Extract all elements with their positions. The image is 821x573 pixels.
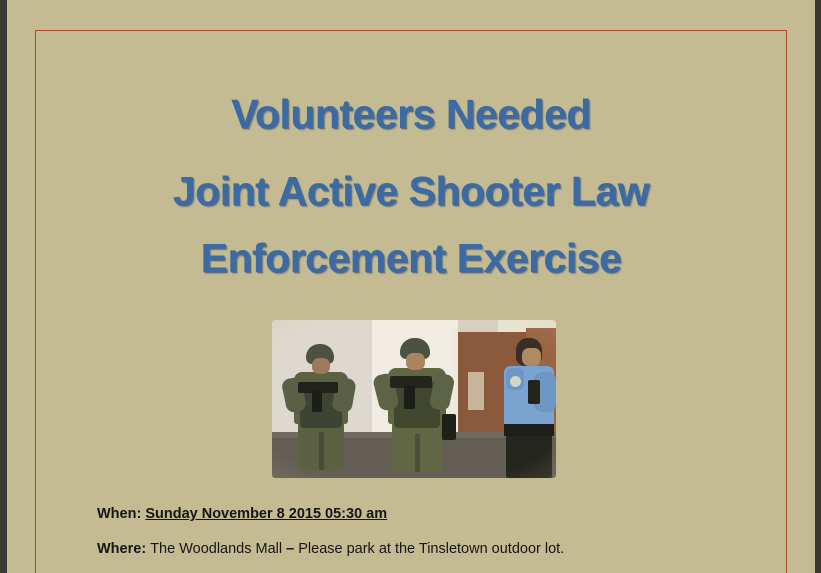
where-dash: – (286, 541, 294, 557)
where-venue: The Woodlands Mall (150, 541, 286, 557)
photo-officer1-leg-gap (319, 432, 324, 470)
when-label: When: (97, 506, 141, 522)
exercise-photo-image (272, 320, 556, 478)
photo-officer2-face (406, 353, 425, 370)
heading-line-2: Joint Active Shooter Law (35, 165, 787, 217)
photo-officer2-leg-gap (415, 434, 420, 472)
screenshot-canvas: Volunteers Needed Joint Active Shooter L… (0, 0, 821, 573)
heading-line-1: Volunteers Needed (35, 88, 787, 140)
photo-officer2-pouch (442, 414, 456, 440)
flyer-page: Volunteers Needed Joint Active Shooter L… (7, 0, 815, 573)
heading-block: Volunteers Needed Joint Active Shooter L… (35, 88, 787, 284)
photo-officer3-badge (510, 376, 521, 387)
photo-officer3-radio (528, 380, 540, 404)
photo-officer1-rifle-grip (312, 390, 322, 412)
detail-row-where: Where: The Woodlands Mall – Please park … (97, 541, 777, 557)
photo-officer3-legs (506, 432, 552, 478)
where-label: Where: (97, 541, 146, 557)
photo-officer3-belt (504, 424, 554, 436)
flyer-content: Volunteers Needed Joint Active Shooter L… (35, 30, 787, 573)
photo-door-panel (468, 372, 484, 410)
detail-row-when: When: Sunday November 8 2015 05:30 am (97, 506, 777, 522)
exercise-photo (272, 320, 556, 478)
when-value: Sunday November 8 2015 05:30 am (145, 506, 387, 522)
heading-line-3: Enforcement Exercise (35, 232, 787, 284)
right-edge-strip (815, 0, 821, 573)
event-details: When: Sunday November 8 2015 05:30 am Wh… (97, 506, 777, 573)
photo-officer2-rifle-grip (404, 385, 415, 409)
photo-officer1-face (312, 358, 330, 374)
photo-officer3-face (522, 348, 541, 366)
where-instructions: Please park at the Tinsletown outdoor lo… (294, 541, 564, 557)
